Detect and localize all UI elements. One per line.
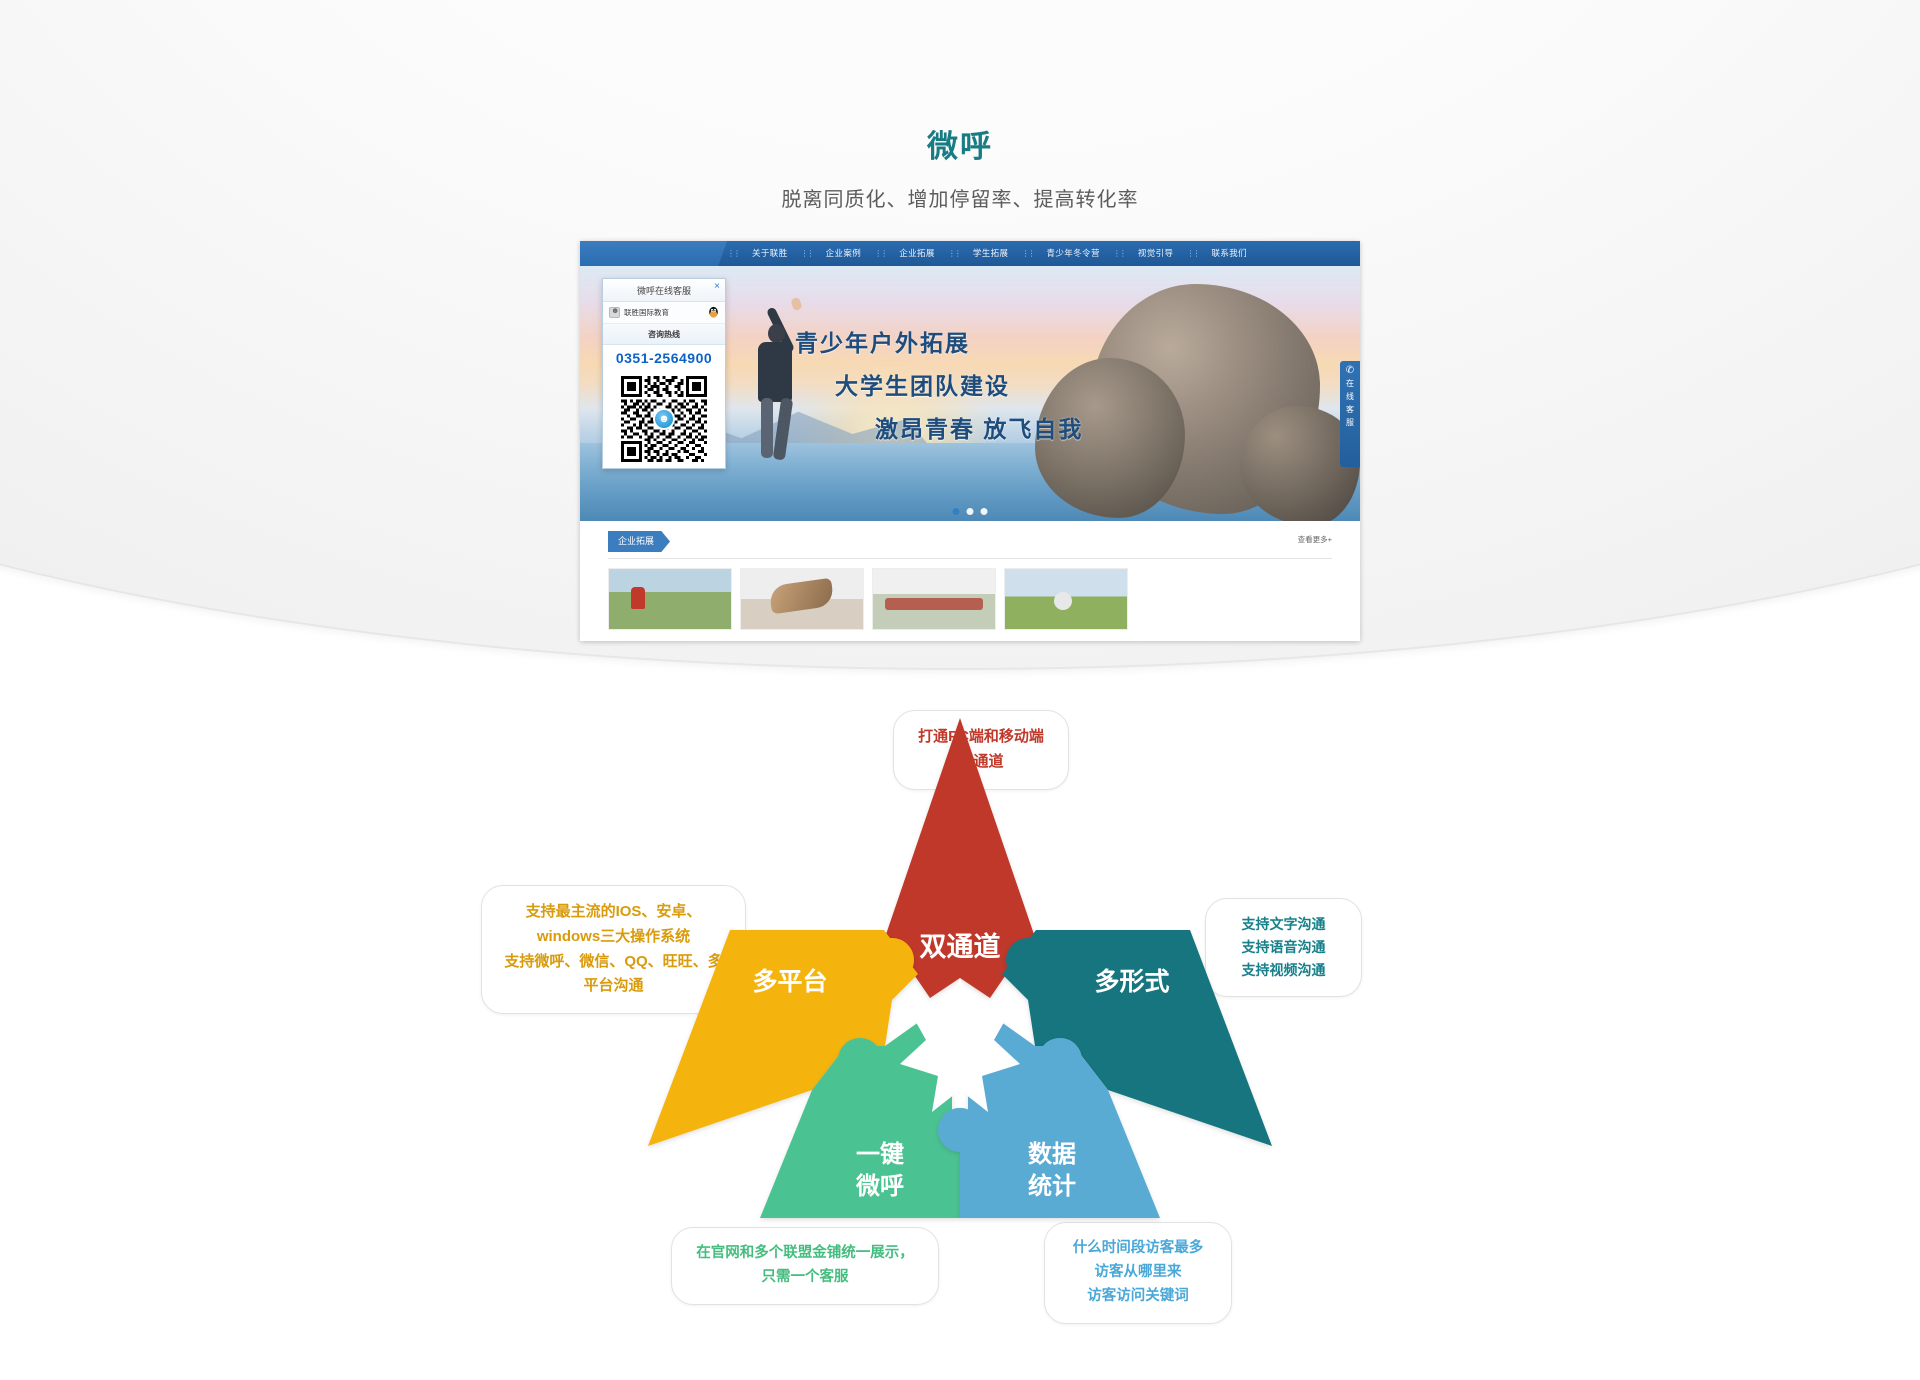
callout-one-click-weihu: 在官网和多个联盟金铺统一展示， 只需一个客服	[671, 1227, 939, 1305]
chat-contact-name: 联胜国际教育	[624, 307, 704, 318]
puzzle-piece-label: 多形式	[1094, 968, 1169, 996]
puzzle-piece-label: 微呼	[855, 1172, 904, 1200]
chat-widget[interactable]: 微呼在线客服 × 联胜国际教育 咨询热线	[602, 278, 726, 469]
carousel-dots[interactable]	[953, 508, 988, 515]
nav-separator	[1113, 241, 1125, 266]
thumbnail-list	[608, 568, 1332, 630]
nav-item-winter-camp[interactable]: 青少年冬令营	[1033, 241, 1112, 266]
side-tab-char: 在	[1346, 378, 1354, 389]
nav-item-contact[interactable]: 联系我们	[1198, 241, 1260, 266]
nav-separator	[948, 241, 960, 266]
callout-line: 只需一个客服	[690, 1266, 920, 1290]
site-nav-items: 关于联胜 企业案例 企业拓展 学生拓展 青少年冬令营 视觉引导 联系我们	[727, 241, 1360, 266]
qr-code-image: ☻	[621, 376, 707, 462]
puzzle-piece-label: 一键	[856, 1140, 904, 1168]
page-root: 微呼 脱离同质化、增加停留率、提高转化率 关于联胜 企业案例 企业拓展 学生拓展…	[0, 0, 1920, 1380]
qr-code-wrapper: ☻	[603, 370, 725, 468]
list-item[interactable]	[872, 568, 996, 630]
hotline-label: 咨询热线	[603, 324, 725, 345]
phone-icon: ✆	[1346, 366, 1354, 376]
chat-widget-contact-row[interactable]: 联胜国际教育	[603, 302, 725, 324]
puzzle-piece-label: 多平台	[752, 967, 827, 996]
qr-center-logo-icon: ☻	[653, 408, 675, 430]
banner-line-2: 大学生团队建设	[835, 367, 1195, 401]
list-item[interactable]	[740, 568, 864, 630]
hero-section: 微呼 脱离同质化、增加停留率、提高转化率	[0, 128, 1920, 212]
hotline-number[interactable]: 0351-2564900	[603, 345, 725, 370]
online-service-side-tab[interactable]: ✆ 在 线 客 服	[1340, 361, 1360, 467]
carousel-dot-1[interactable]	[953, 508, 960, 515]
banner-line-3: 激昂青春 放飞自我	[875, 410, 1195, 444]
side-tab-char: 客	[1346, 404, 1354, 415]
puzzle-piece-label: 数据	[1028, 1141, 1076, 1168]
nav-item-cases[interactable]: 企业案例	[813, 241, 875, 266]
nav-separator	[727, 241, 739, 266]
nav-item-student-training[interactable]: 学生拓展	[960, 241, 1022, 266]
website-preview: 关于联胜 企业案例 企业拓展 学生拓展 青少年冬令营 视觉引导 联系我们	[580, 241, 1360, 641]
view-more-link[interactable]: 查看更多+	[1298, 534, 1332, 545]
side-tab-char: 服	[1346, 417, 1354, 428]
nav-item-visual-guide[interactable]: 视觉引导	[1125, 241, 1187, 266]
nav-separator	[801, 241, 813, 266]
chat-widget-header: 微呼在线客服 ×	[603, 279, 725, 302]
site-hero-banner: 青少年户外拓展 大学生团队建设 激昂青春 放飞自我 微呼在线客服 × 联胜国际教…	[580, 266, 1360, 521]
nav-item-enterprise-training[interactable]: 企业拓展	[886, 241, 948, 266]
nav-separator	[874, 241, 886, 266]
close-icon[interactable]: ×	[714, 282, 720, 292]
callout-line: 什么时间段访客最多	[1063, 1237, 1213, 1261]
site-navbar: 关于联胜 企业案例 企业拓展 学生拓展 青少年冬令营 视觉引导 联系我们	[580, 241, 1360, 266]
list-item[interactable]	[1004, 568, 1128, 630]
side-tab-char: 线	[1346, 391, 1354, 402]
puzzle-star-graphic: 双通道 多平台 多形式 一键 微呼	[460, 678, 1460, 1238]
section-header: 企业拓展 查看更多+	[608, 531, 1332, 559]
nav-item-about[interactable]: 关于联胜	[739, 241, 801, 266]
chat-widget-title: 微呼在线客服	[637, 284, 691, 297]
site-products-section: 企业拓展 查看更多+	[580, 521, 1360, 641]
section-tag[interactable]: 企业拓展	[608, 531, 670, 552]
banner-text-block: 青少年户外拓展 大学生团队建设 激昂青春 放飞自我	[795, 324, 1195, 444]
page-subtitle: 脱离同质化、增加停留率、提高转化率	[0, 183, 1920, 212]
list-item[interactable]	[608, 568, 732, 630]
banner-line-1: 青少年户外拓展	[795, 324, 1195, 358]
callout-line: 访客从哪里来	[1063, 1261, 1213, 1285]
callout-line: 访客访问关键词	[1063, 1285, 1213, 1309]
page-title: 微呼	[0, 128, 1920, 165]
nav-separator	[1186, 241, 1198, 266]
callout-line: 在官网和多个联盟金铺统一展示，	[690, 1242, 920, 1266]
avatar	[609, 307, 620, 318]
nav-separator	[1021, 241, 1033, 266]
carousel-dot-2[interactable]	[967, 508, 974, 515]
puzzle-piece-label: 统计	[1028, 1172, 1076, 1200]
star-puzzle-diagram: 打通PC端和移动端 双通道 支持最主流的IOS、安卓、windows三大操作系统…	[0, 700, 1920, 1380]
qq-penguin-icon[interactable]	[708, 306, 719, 319]
site-logo-tab[interactable]	[580, 241, 727, 266]
carousel-dot-3[interactable]	[981, 508, 988, 515]
puzzle-piece-label: 双通道	[920, 931, 1001, 962]
